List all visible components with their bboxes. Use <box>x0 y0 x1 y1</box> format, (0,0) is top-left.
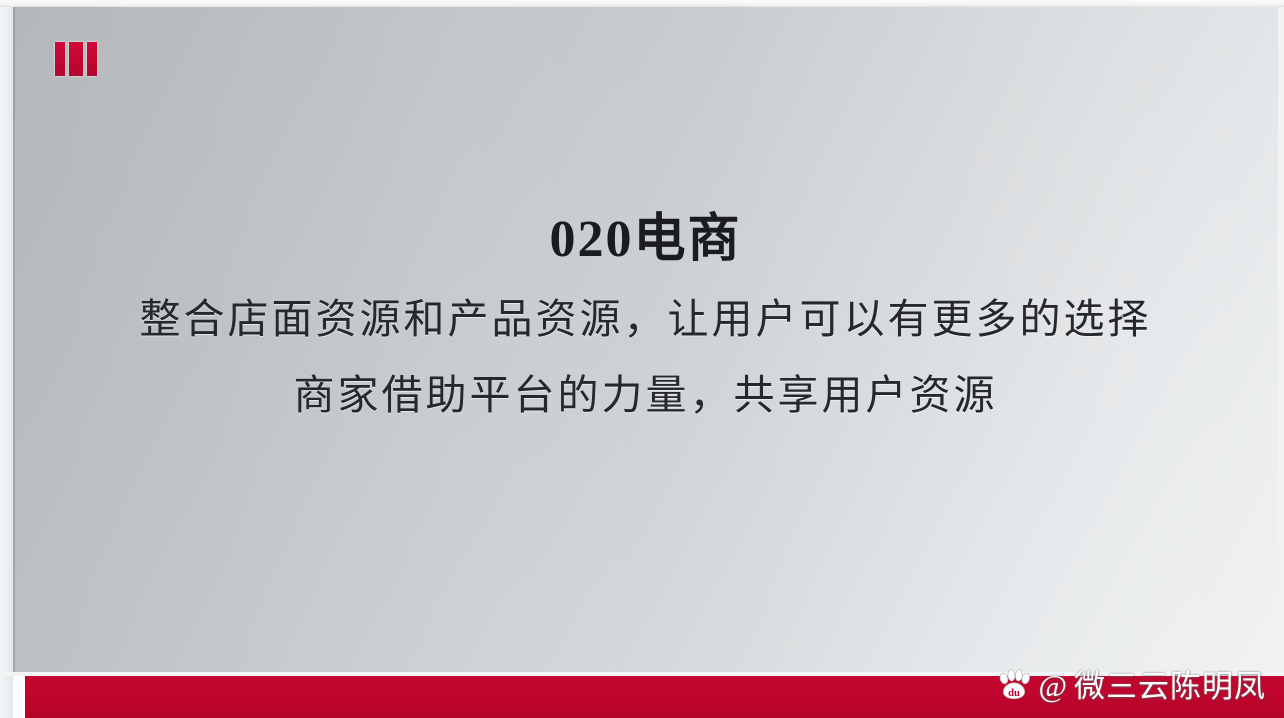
three-bar-logo-icon <box>55 42 97 76</box>
logo-bar-right <box>87 42 97 76</box>
slide-body-line-2: 商家借助平台的力量，共享用户资源 <box>13 358 1278 434</box>
footer-red-band <box>25 676 1284 718</box>
page-margin-right <box>1278 0 1284 718</box>
slide-frame: 020电商 整合店面资源和产品资源，让用户可以有更多的选择 商家借助平台的力量，… <box>0 0 1284 718</box>
slide-headline: 020电商 <box>13 210 1278 270</box>
page-margin-top <box>0 0 1284 7</box>
slide-body-line-1: 整合店面资源和产品资源，让用户可以有更多的选择 <box>13 282 1278 358</box>
logo-bar-middle <box>69 42 82 76</box>
slide-text-block: 020电商 整合店面资源和产品资源，让用户可以有更多的选择 商家借助平台的力量，… <box>13 210 1278 433</box>
logo-bar-left <box>55 42 65 76</box>
page-margin-left <box>0 0 13 718</box>
